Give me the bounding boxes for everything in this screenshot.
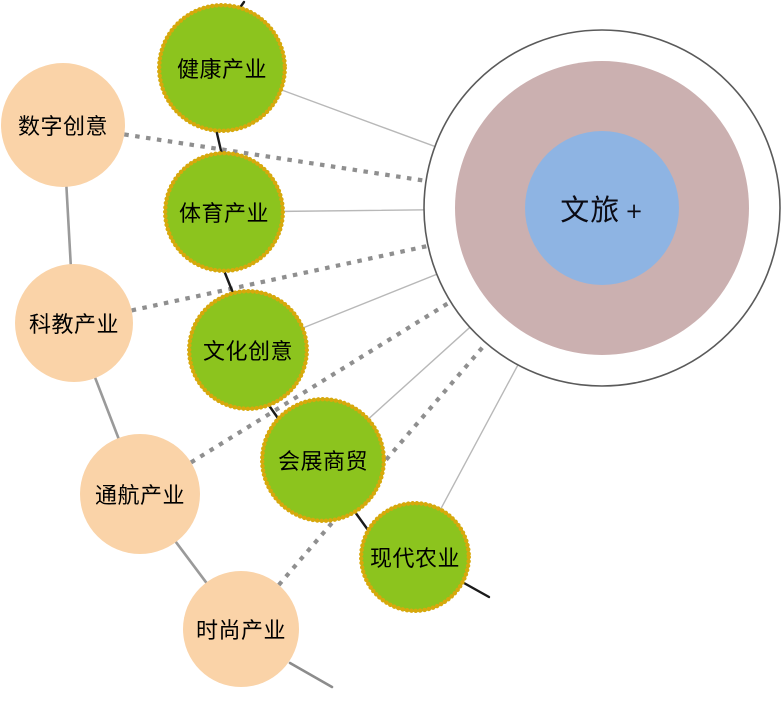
link-chain-digital-to-sci-edu — [66, 187, 70, 264]
node-agriculture[interactable] — [360, 502, 470, 612]
node-sci-edu[interactable] — [15, 264, 133, 382]
node-aviation[interactable] — [80, 434, 200, 554]
stub-stub-expo-agri — [355, 512, 368, 530]
node-health[interactable] — [158, 4, 286, 132]
node-digital[interactable] — [1, 63, 125, 187]
node-fashion[interactable] — [183, 571, 299, 687]
node-expo-trade[interactable] — [261, 398, 385, 522]
link-chain-aviation-to-fashion — [176, 542, 206, 583]
hub-node[interactable] — [525, 131, 679, 285]
node-sports[interactable] — [164, 152, 284, 272]
diagram-canvas: 健康产业体育产业文化创意会展商贸现代农业数字创意科教产业通航产业时尚产业文旅+ — [0, 0, 782, 704]
node-culture[interactable] — [188, 290, 308, 410]
stub-stub-fashion-out — [290, 663, 332, 687]
link-chain-sci-edu-to-aviation — [95, 378, 118, 438]
